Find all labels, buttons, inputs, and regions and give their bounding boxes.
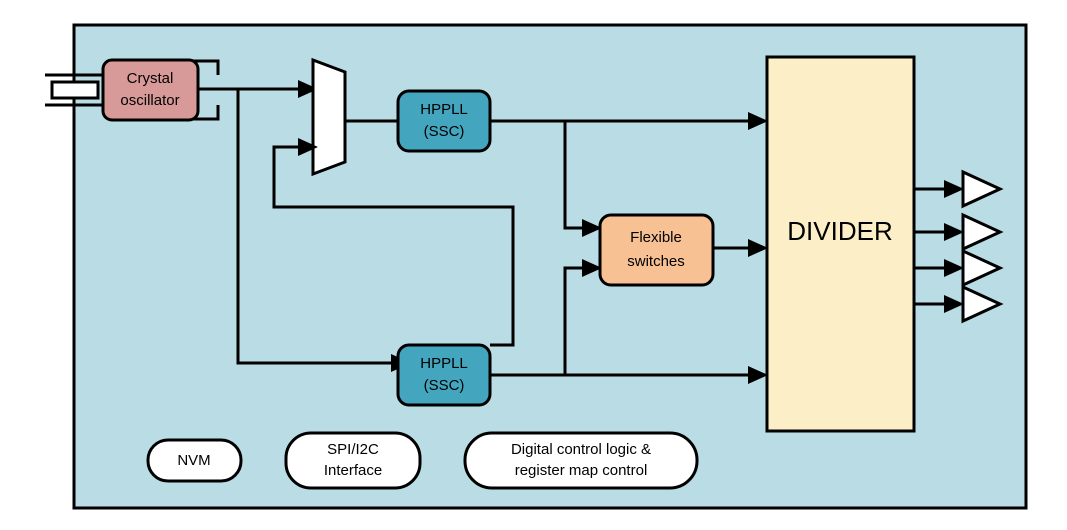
spi-i2c-interface-block[interactable]: SPI/I2C Interface [286, 433, 420, 488]
digital-control-logic-block[interactable]: Digital control logic & register map con… [465, 433, 697, 488]
hppll-top-box[interactable] [398, 91, 490, 151]
spi-i2c-interface-box[interactable] [286, 433, 420, 488]
nvm-block[interactable]: NVM [148, 440, 241, 481]
crystal-oscillator-box[interactable] [103, 60, 198, 120]
multiplexer-icon[interactable] [313, 60, 345, 174]
block-diagram-canvas: Crystal oscillator HPPLL (SSC) HPPLL (SS… [0, 0, 1067, 530]
hppll-bottom-block[interactable]: HPPLL (SSC) [398, 345, 490, 405]
crystal-oscillator-block[interactable]: Crystal oscillator [103, 60, 198, 120]
flexible-switches-box[interactable] [600, 215, 713, 285]
mux-shape[interactable] [313, 60, 345, 174]
block-diagram-root: Crystal oscillator HPPLL (SSC) HPPLL (SS… [0, 0, 1067, 530]
nvm-box[interactable] [148, 440, 241, 481]
flexible-switches-block[interactable]: Flexible switches [600, 215, 713, 285]
digital-control-logic-box[interactable] [465, 433, 697, 488]
hppll-top-block[interactable]: HPPLL (SSC) [398, 91, 490, 151]
divider-block[interactable]: DIVIDER [767, 57, 914, 431]
hppll-bottom-box[interactable] [398, 345, 490, 405]
divider-box[interactable] [767, 57, 914, 431]
